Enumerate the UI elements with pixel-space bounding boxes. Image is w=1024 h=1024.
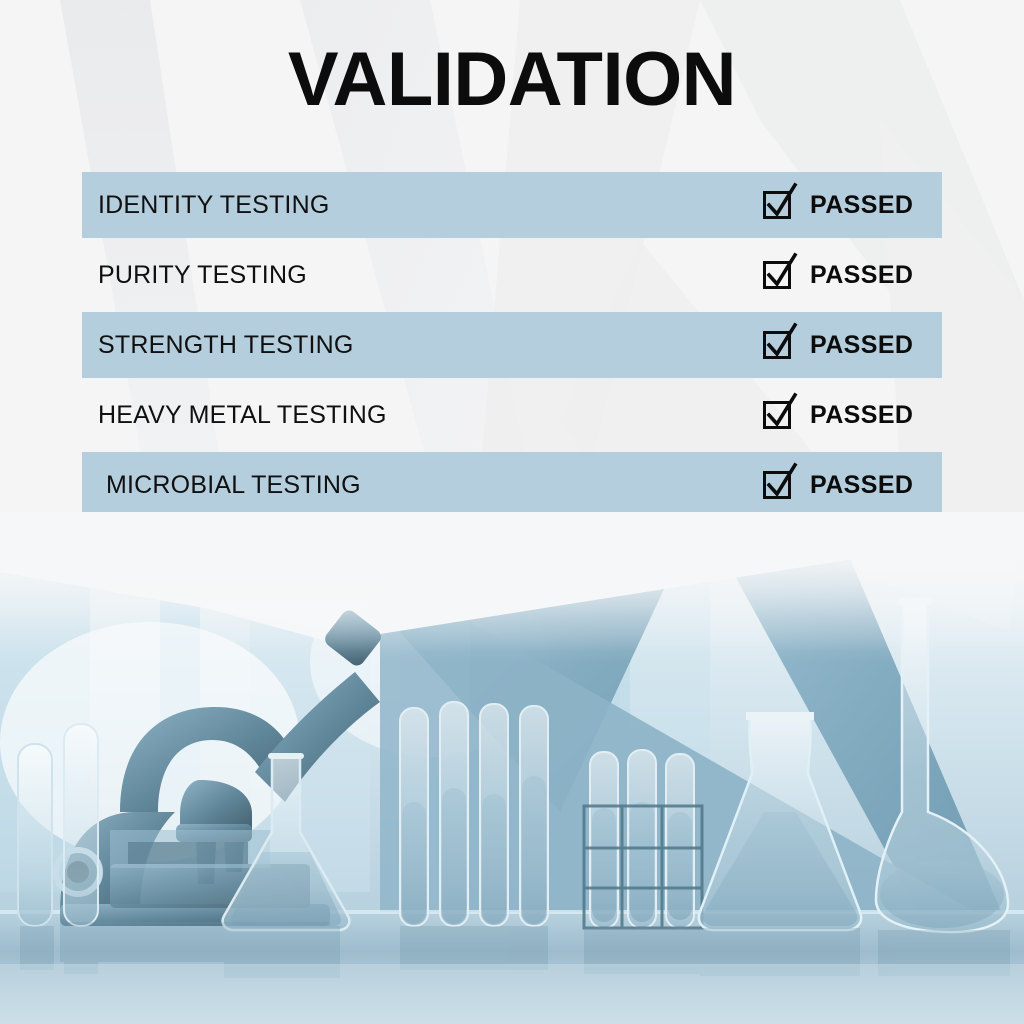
checklist-row-label: IDENTITY TESTING: [98, 193, 329, 218]
checklist-row-status: PASSED: [764, 330, 913, 360]
status-badge: PASSED: [810, 473, 913, 498]
checkbox-checked-icon[interactable]: [764, 400, 794, 430]
checklist-row-status: PASSED: [764, 260, 913, 290]
status-badge: PASSED: [810, 193, 913, 218]
checkbox-checked-icon[interactable]: [764, 260, 794, 290]
checkbox-checked-icon[interactable]: [764, 190, 794, 220]
status-badge: PASSED: [810, 403, 913, 428]
checklist-row-label: HEAVY METAL TESTING: [98, 403, 387, 428]
checklist-row-label: MICROBIAL TESTING: [106, 473, 361, 498]
checklist-row-status: PASSED: [764, 400, 913, 430]
checklist-row[interactable]: STRENGTH TESTINGPASSED: [82, 312, 942, 378]
checklist-row[interactable]: HEAVY METAL TESTINGPASSED: [82, 382, 942, 448]
checklist-row[interactable]: IDENTITY TESTINGPASSED: [82, 172, 942, 238]
validation-infographic: VALIDATION IDENTITY TESTINGPASSEDPURITY …: [0, 0, 1024, 1024]
status-badge: PASSED: [810, 263, 913, 288]
laboratory-photo: [0, 512, 1024, 1024]
checklist-row[interactable]: MICROBIAL TESTINGPASSED: [82, 452, 942, 518]
checklist-row[interactable]: PURITY TESTINGPASSED: [82, 242, 942, 308]
checkbox-checked-icon[interactable]: [764, 330, 794, 360]
checklist-row-label: PURITY TESTING: [98, 263, 307, 288]
checklist-row-label: STRENGTH TESTING: [98, 333, 354, 358]
status-badge: PASSED: [810, 333, 913, 358]
checkbox-checked-icon[interactable]: [764, 470, 794, 500]
checklist-row-status: PASSED: [764, 470, 913, 500]
validation-checklist: IDENTITY TESTINGPASSEDPURITY TESTINGPASS…: [82, 172, 942, 522]
page-title: VALIDATION: [0, 42, 1024, 118]
checklist-row-status: PASSED: [764, 190, 913, 220]
